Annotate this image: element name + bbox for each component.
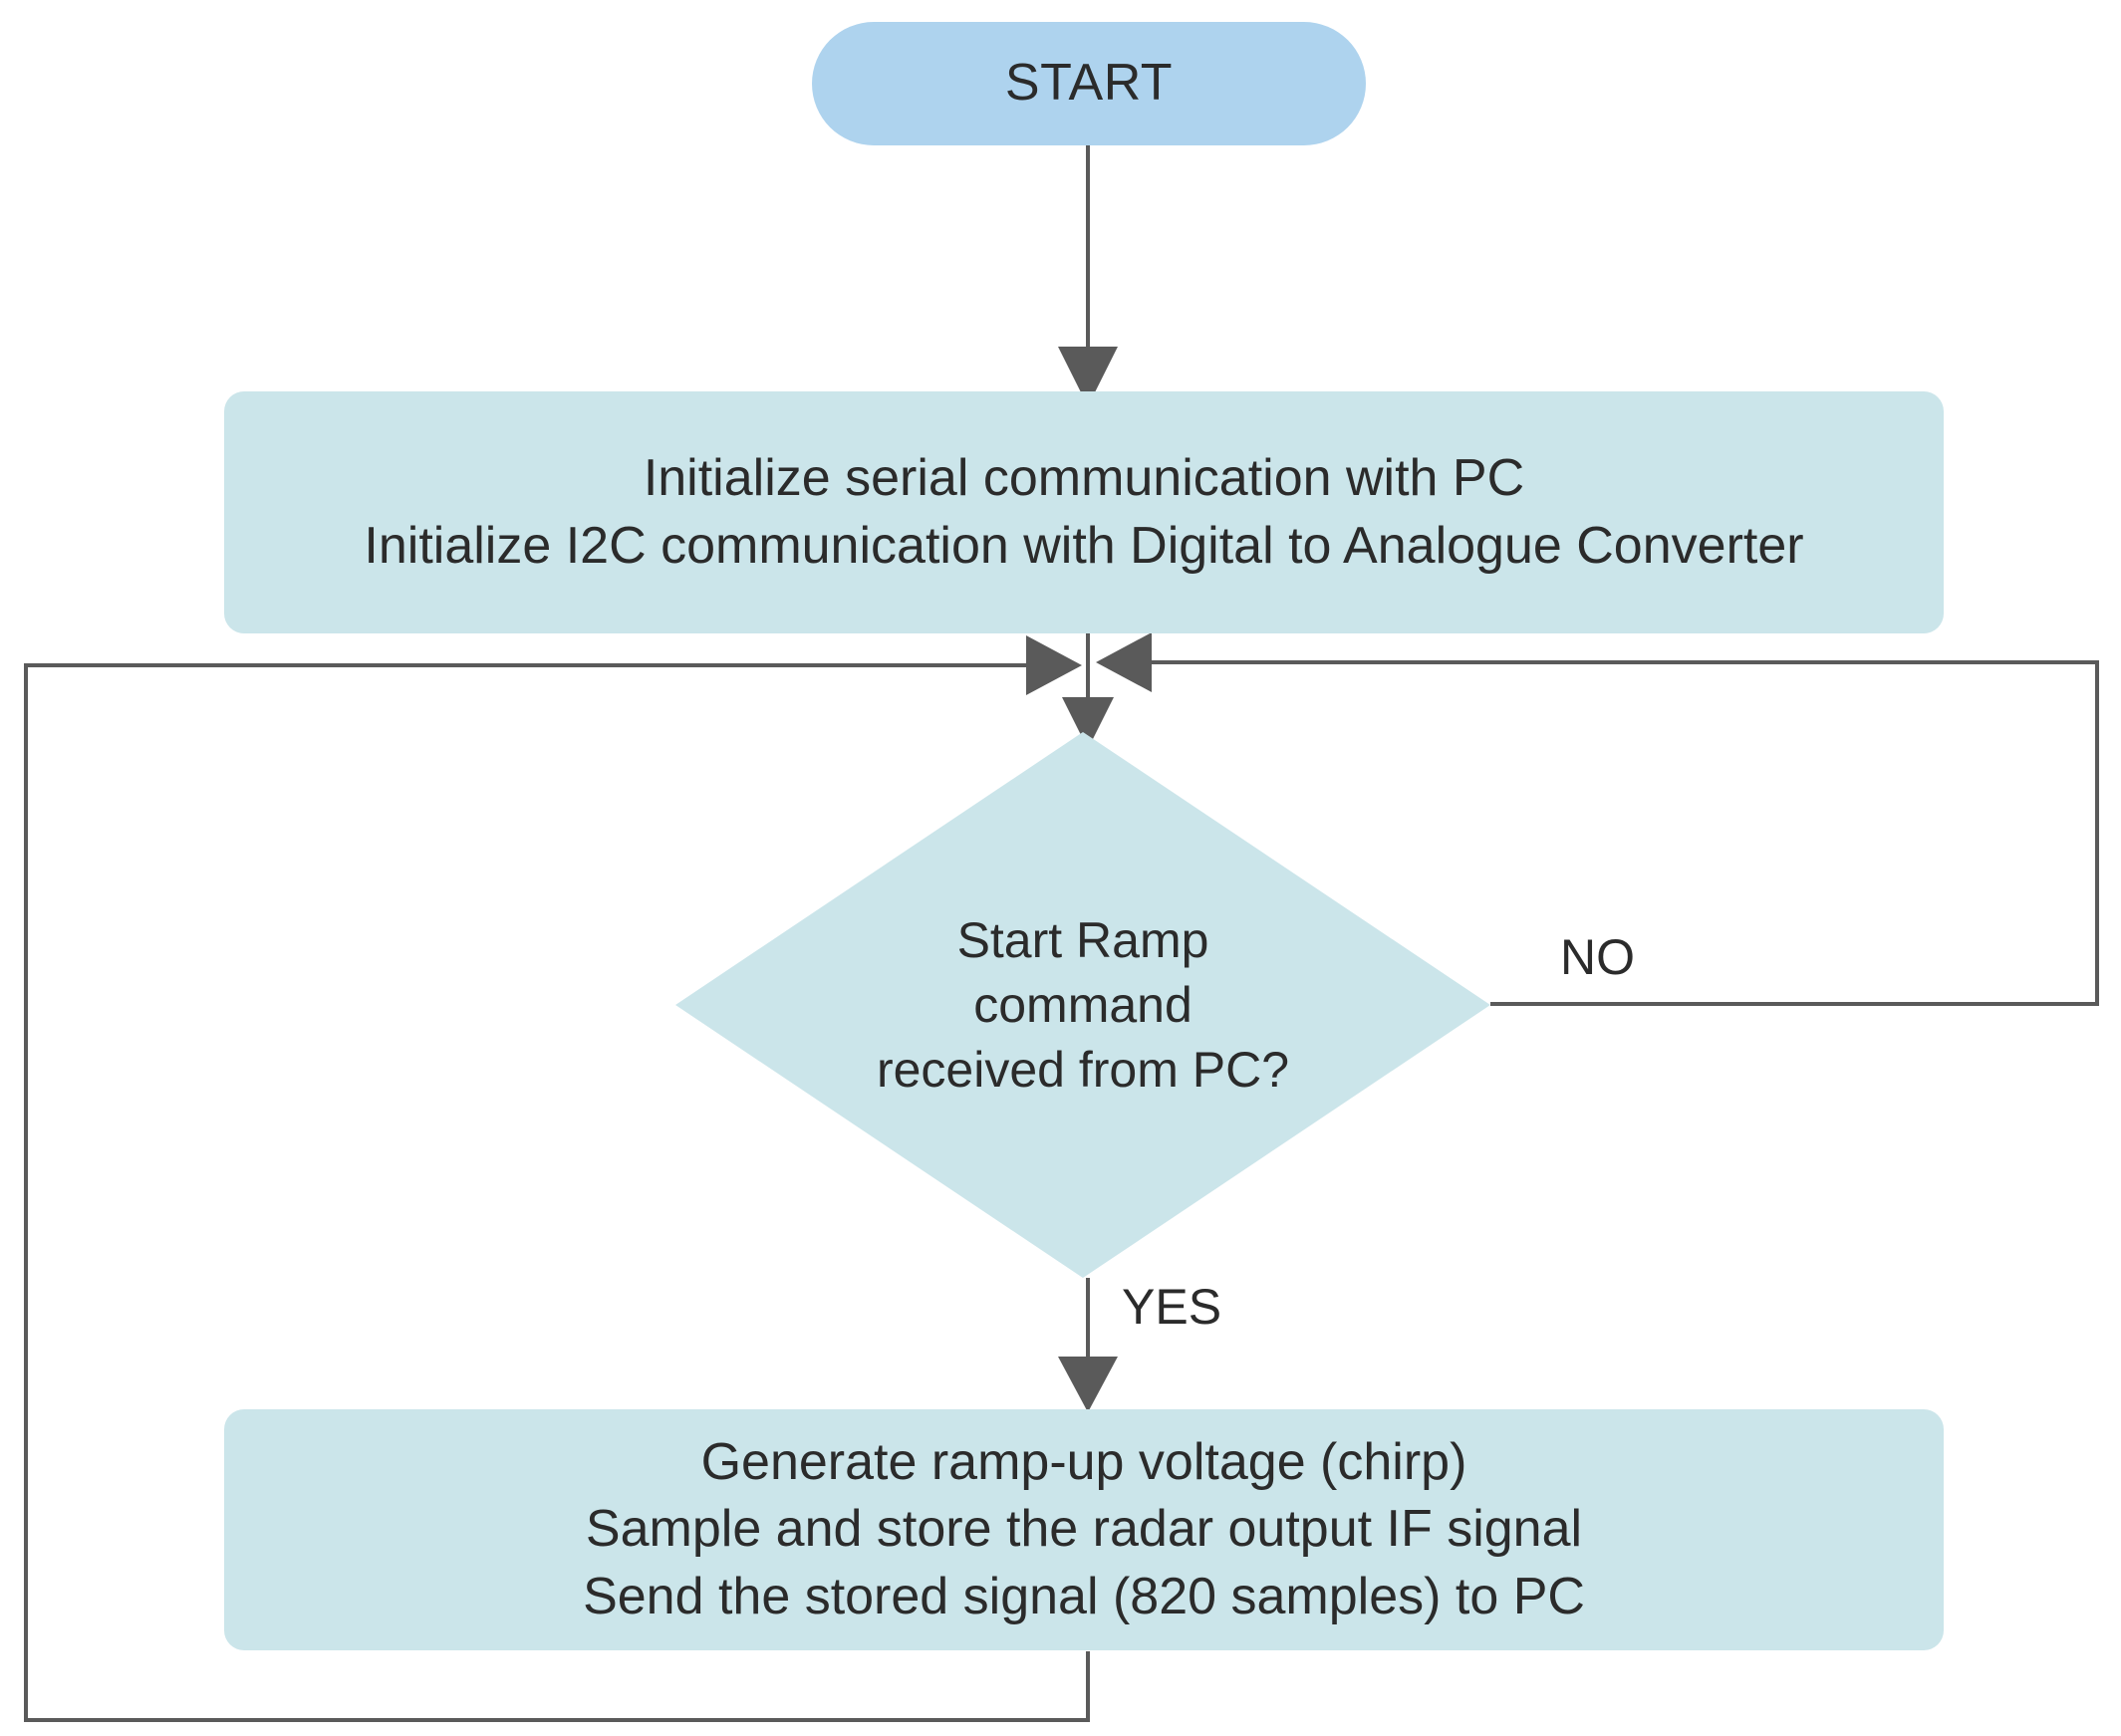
node-initialize-label: Initialize serial communication with PC … — [364, 445, 1803, 580]
edge-start-to-init — [1058, 145, 1118, 406]
node-generate-label: Generate ramp-up voltage (chirp) Sample … — [583, 1429, 1585, 1631]
edge-decision-yes — [1058, 1278, 1118, 1412]
edge-label-no: NO — [1560, 928, 1635, 986]
node-start-terminator[interactable]: START — [812, 22, 1366, 145]
edge-init-to-decision — [1062, 633, 1114, 749]
flowchart-canvas: START Initialize serial communication wi… — [0, 0, 2121, 1736]
node-initialize-process[interactable]: Initialize serial communication with PC … — [224, 391, 1944, 633]
node-decision-label: Start Ramp command received from PC? — [874, 908, 1292, 1103]
edge-label-yes: YES — [1122, 1278, 1221, 1336]
node-generate-process[interactable]: Generate ramp-up voltage (chirp) Sample … — [224, 1409, 1944, 1650]
node-start-label: START — [1005, 50, 1173, 118]
